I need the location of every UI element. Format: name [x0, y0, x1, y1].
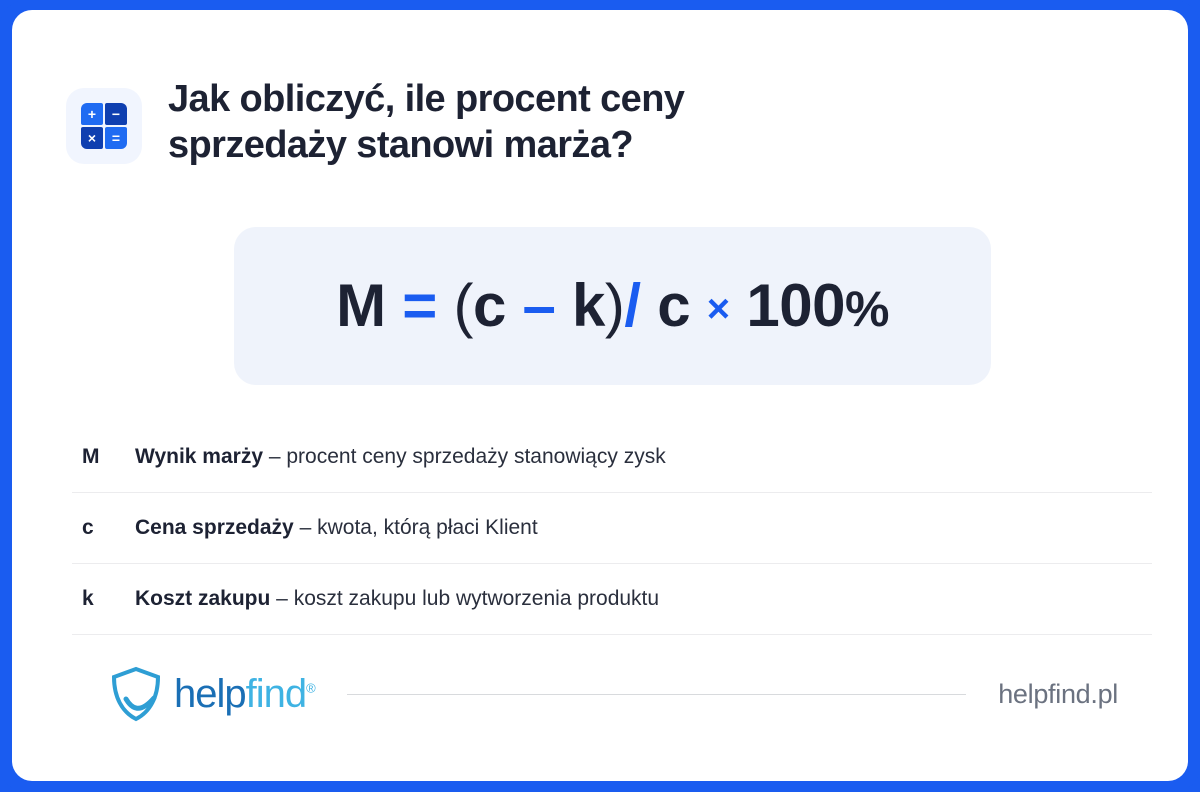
legend-symbol: M — [72, 445, 135, 469]
formula-paren-open: ( — [453, 272, 472, 339]
legend-dash: – — [270, 587, 293, 610]
legend-term: Koszt zakupu — [135, 587, 270, 610]
logo-wordmark: helpfind® — [174, 674, 315, 714]
formula-slash-operator: / — [624, 272, 640, 339]
formula-minus-operator: – — [523, 272, 556, 339]
shield-icon — [110, 666, 162, 722]
legend-row: c Cena sprzedaży – kwota, którą płaci Kl… — [72, 493, 1152, 564]
formula-variable-c1: c — [473, 272, 506, 339]
legend-detail: procent ceny sprzedaży stanowiący zysk — [286, 445, 665, 468]
footer-divider — [347, 694, 966, 695]
legend-row: M Wynik marży – procent ceny sprzedaży s… — [72, 422, 1152, 493]
formula-equals-operator: = — [402, 272, 437, 339]
legend-row: k Koszt zakupu – koszt zakupu lub wytwor… — [72, 564, 1152, 635]
legend-term: Wynik marży — [135, 445, 263, 468]
calculator-equals-cell: = — [105, 127, 127, 149]
legend-dash: – — [263, 445, 286, 468]
calculator-multiply-cell: × — [81, 127, 103, 149]
formula-times-operator: × — [707, 287, 730, 331]
legend-description: Wynik marży – procent ceny sprzedaży sta… — [135, 445, 666, 469]
legend-term: Cena sprzedaży — [135, 516, 294, 539]
registered-trademark-icon: ® — [306, 681, 315, 696]
legend-dash: – — [294, 516, 317, 539]
legend-symbol: k — [72, 587, 135, 611]
calculator-plus-cell: + — [81, 103, 103, 125]
formula-percent-sign: % — [845, 281, 889, 337]
calculator-minus-cell: − — [105, 103, 127, 125]
formula-variable-k: k — [572, 272, 605, 339]
header: + − × = Jak obliczyć, ile procent ceny s… — [66, 76, 1148, 169]
formula-variable-c2: c — [657, 272, 690, 339]
legend-list: M Wynik marży – procent ceny sprzedaży s… — [72, 422, 1152, 635]
helpfind-logo: helpfind® — [72, 666, 315, 722]
formula-hundred: 100 — [746, 272, 845, 339]
formula-variable-m: M — [336, 272, 385, 339]
legend-detail: koszt zakupu lub wytworzenia produktu — [294, 587, 659, 610]
legend-symbol: c — [72, 516, 135, 540]
formula-expression: M = (c – k)/ c × 100% — [336, 276, 889, 336]
logo-word-help: help — [174, 672, 246, 716]
formula-box: M = (c – k)/ c × 100% — [234, 227, 991, 385]
legend-description: Cena sprzedaży – kwota, którą płaci Klie… — [135, 516, 538, 540]
content-card: + − × = Jak obliczyć, ile procent ceny s… — [12, 10, 1188, 781]
outer-blue-frame: + − × = Jak obliczyć, ile procent ceny s… — [0, 0, 1200, 792]
page-title: Jak obliczyć, ile procent ceny sprzedaży… — [168, 76, 828, 169]
calculator-icon-tile: + − × = — [66, 88, 142, 164]
footer: helpfind® helpfind.pl — [72, 663, 1128, 725]
logo-word-find: find — [246, 672, 307, 716]
footer-url: helpfind.pl — [998, 679, 1128, 710]
formula-paren-close: ) — [605, 272, 624, 339]
calculator-icon: + − × = — [81, 103, 127, 149]
legend-description: Koszt zakupu – koszt zakupu lub wytworze… — [135, 587, 659, 611]
legend-detail: kwota, którą płaci Klient — [317, 516, 538, 539]
